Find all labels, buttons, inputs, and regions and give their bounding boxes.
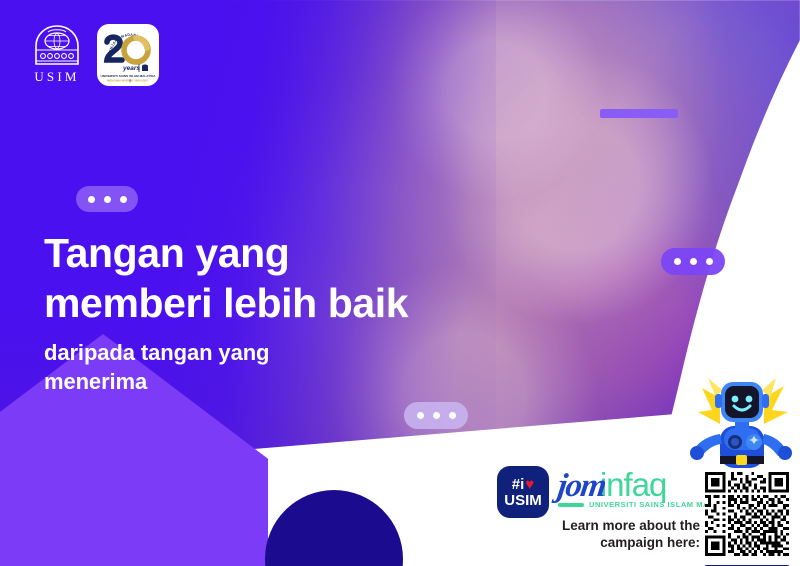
- svg-text:MENJANA MADANI: MENJANA MADANI: [107, 79, 133, 83]
- cta-line-2: campaign here:: [600, 535, 700, 550]
- headline-title: Tangan yang memberi lebih baik: [44, 228, 514, 328]
- headline-line-1: Tangan yang: [44, 230, 289, 276]
- anniversary-20-logo: MENJANA MADANI years UNIVERSITI SAINS IS…: [97, 24, 159, 86]
- cta-text: Learn more about the campaign here:: [520, 518, 700, 552]
- ilove-usim-badge[interactable]: #i ♥ USIM: [497, 466, 549, 518]
- headline-line-2: memberi lebih baik: [44, 280, 408, 326]
- horizontal-bar-decoration: [600, 109, 678, 118]
- jom-word: jom: [555, 468, 607, 505]
- qr-code-icon[interactable]: [705, 472, 789, 556]
- brand-cluster: #i ♥ USIM jom infaq UNIVERSITI SAINS ISL…: [497, 466, 739, 518]
- hash-i-label: #i: [512, 477, 525, 492]
- dots-pill-decoration-a: [76, 186, 138, 212]
- dot: [104, 196, 111, 203]
- logo-row: USIM MENJANA MADANI years UNIVERSITI SAI…: [27, 24, 159, 86]
- anniversary-logo-icon: MENJANA MADANI years UNIVERSITI SAINS IS…: [97, 24, 159, 86]
- cta-line-1: Learn more about the: [562, 518, 700, 533]
- dot: [88, 196, 95, 203]
- heart-icon: ♥: [525, 477, 534, 492]
- robot-mascot-icon: [690, 368, 794, 480]
- subheadline-line-2: menerima: [44, 369, 147, 394]
- dot: [417, 412, 424, 419]
- usim-wordmark: USIM: [34, 69, 79, 85]
- svg-text:UNIVERSITI SAINS ISLAM MALAYSI: UNIVERSITI SAINS ISLAM MALAYSIA: [101, 74, 157, 78]
- ilove-badge-top: #i ♥: [512, 477, 534, 492]
- dots-pill-decoration-b: [661, 248, 725, 275]
- dot: [706, 258, 713, 265]
- qr-code-block[interactable]: [705, 472, 789, 566]
- dots-pill-decoration-c: [404, 402, 468, 429]
- infaq-word: infaq: [600, 466, 667, 504]
- dot: [433, 412, 440, 419]
- ilove-badge-usim: USIM: [504, 493, 542, 508]
- dot: [674, 258, 681, 265]
- subheadline-line-1: daripada tangan yang: [44, 340, 269, 365]
- headline-subtitle: daripada tangan yang menerima: [44, 339, 514, 396]
- dot: [120, 196, 127, 203]
- svg-text:2000-2020: 2000-2020: [134, 79, 148, 83]
- usim-logo: USIM: [27, 24, 87, 85]
- usim-crest-icon: [28, 24, 86, 68]
- svg-text:years: years: [122, 65, 140, 72]
- campaign-banner: USIM MENJANA MADANI years UNIVERSITI SAI…: [0, 0, 800, 566]
- dot: [449, 412, 456, 419]
- headline-block: Tangan yang memberi lebih baik daripada …: [44, 228, 514, 396]
- dot: [690, 258, 697, 265]
